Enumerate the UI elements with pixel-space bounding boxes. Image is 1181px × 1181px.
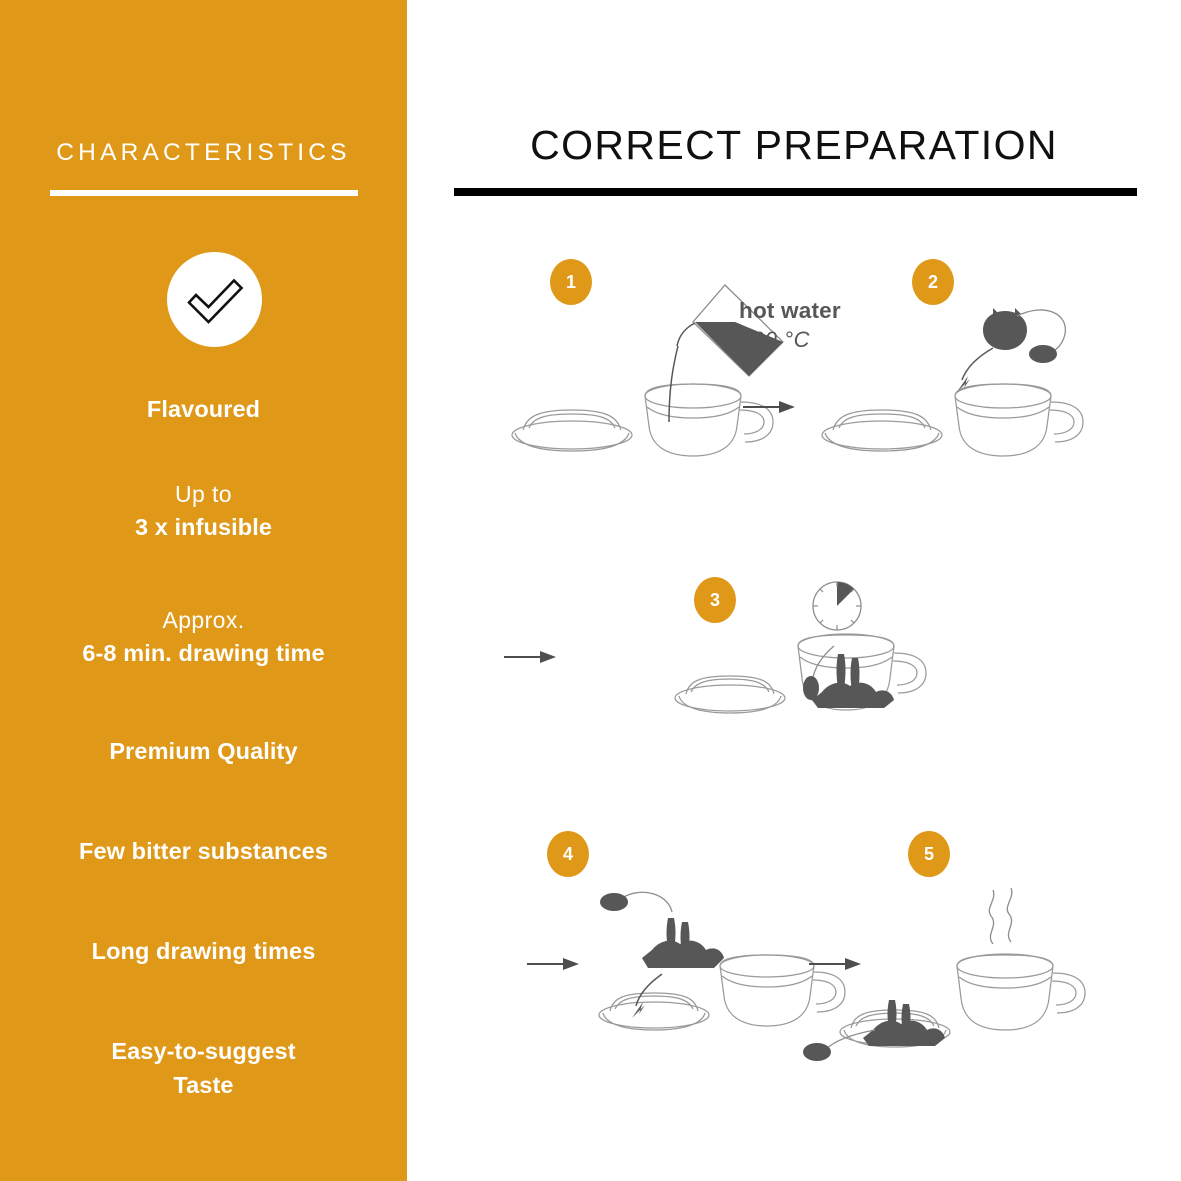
list-item: Up to 3 x infusible: [0, 478, 407, 544]
list-item: Long drawing times: [0, 934, 407, 968]
used-teabag-icon: [600, 892, 732, 968]
step-2-illustration: [807, 300, 1137, 475]
step-badge-5: 5: [908, 831, 950, 877]
step-number: 4: [563, 844, 573, 865]
item-main-text-second-line: Taste: [0, 1068, 407, 1102]
list-item: Easy-to-suggest Taste: [0, 1034, 407, 1102]
list-item: Premium Quality: [0, 734, 407, 768]
item-main-text: Long drawing times: [0, 934, 407, 968]
checkmark-icon: [167, 252, 262, 347]
list-item: Flavoured: [0, 392, 407, 426]
saucer-icon: [512, 410, 632, 451]
cup-icon: [955, 384, 1083, 456]
steps-area: 1: [407, 0, 1181, 1181]
arrow-step-3-to-4-icon: [525, 955, 580, 973]
tea-leaves-icon: [804, 643, 902, 709]
item-main-text: 6-8 min. drawing time: [0, 636, 407, 670]
characteristics-list: Flavoured Up to 3 x infusible Approx. 6-…: [0, 392, 407, 1130]
timer-icon: [807, 575, 867, 637]
item-main-text: Easy-to-suggest: [0, 1034, 407, 1068]
item-pre-text: Approx.: [0, 604, 407, 636]
teabag-icon: [983, 308, 1065, 363]
saucer-with-used-bag-icon: [803, 989, 950, 1061]
steam-icon: [989, 888, 1012, 944]
saucer-icon: [675, 676, 785, 713]
saucer-icon: [599, 993, 709, 1030]
item-main-text: Premium Quality: [0, 734, 407, 768]
item-main-text: 3 x infusible: [0, 510, 407, 544]
item-pre-text: Up to: [0, 478, 407, 510]
saucer-icon: [822, 410, 942, 451]
list-item: Few bitter substances: [0, 834, 407, 868]
step-number: 3: [710, 590, 720, 611]
step-badge-3: 3: [694, 577, 736, 623]
cup-icon: [957, 954, 1085, 1030]
item-main-text: Flavoured: [0, 392, 407, 426]
cup-icon: [645, 384, 773, 456]
list-item: Approx. 6-8 min. drawing time: [0, 604, 407, 670]
characteristics-panel: CHARACTERISTICS Flavoured Up to 3 x infu…: [0, 0, 407, 1181]
step-badge-2: 2: [912, 259, 954, 305]
item-main-text: Few bitter substances: [0, 834, 407, 868]
arrow-step-1-to-2-icon: [741, 398, 796, 416]
preparation-panel: CORRECT PREPARATION 1: [407, 0, 1181, 1181]
step-3-illustration: [662, 630, 932, 740]
step-badge-4: 4: [547, 831, 589, 877]
step-number: 5: [924, 844, 934, 865]
step-number: 2: [928, 272, 938, 293]
checkmark-badge: [167, 252, 262, 347]
characteristics-title: CHARACTERISTICS: [0, 139, 407, 167]
arrow-step-2-to-3-icon: [502, 648, 557, 666]
step-5-illustration: [797, 880, 1107, 1065]
characteristics-title-rule: [50, 190, 358, 196]
infographic-page: CHARACTERISTICS Flavoured Up to 3 x infu…: [0, 0, 1181, 1181]
